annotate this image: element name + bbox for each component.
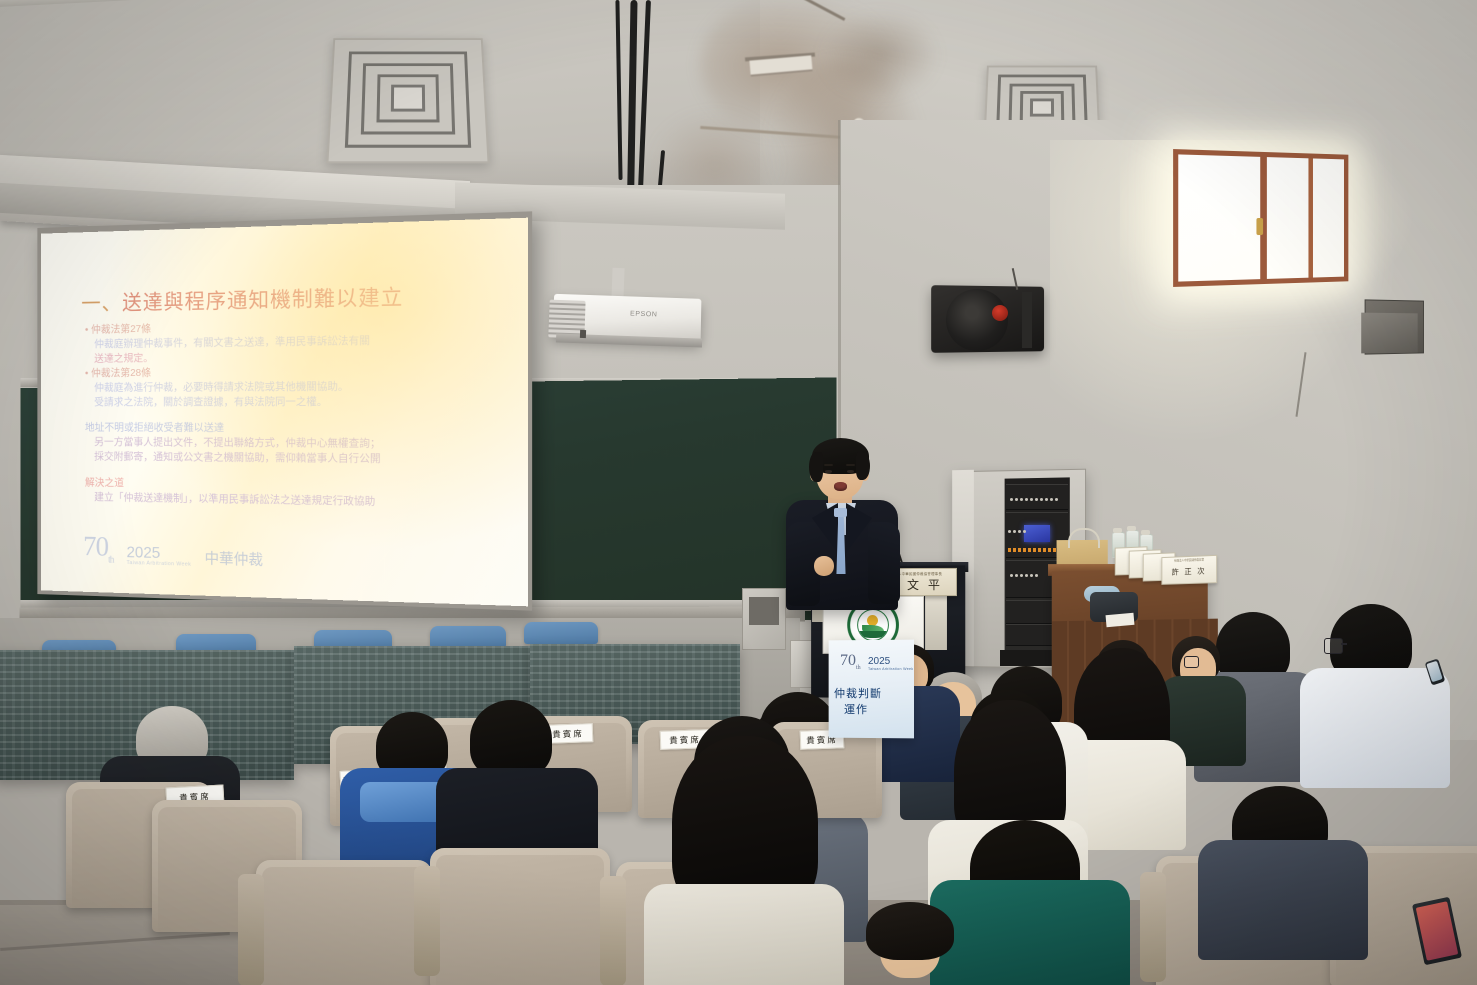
podium-side-panel [925,592,947,650]
audience-body-green [930,880,1130,985]
bottle-cap [1113,528,1122,533]
presenter-eye [825,470,832,473]
lecture-hall-photo: 一、送達與程序通知機制難以建立 • 仲裁法第27條 仲裁庭辦理仲裁事件，有關文書… [0,0,1477,985]
blue-chair[interactable] [524,622,598,644]
seat-armrest [600,876,626,985]
hvac-diffuser-icon [326,38,489,163]
glasses-icon [1184,656,1199,668]
presenter-right-arm [868,522,900,604]
blue-chair[interactable] [430,626,506,648]
rack-knob-row [1010,498,1058,501]
mixer-lcd-display [1024,525,1050,542]
glasses-icon [1324,638,1343,654]
presenter-eyebrow [846,464,855,466]
paper-stack [1106,613,1135,627]
standee-year-logo: 2025Taiwan Arbitration Week [868,652,913,672]
glasses-bridge [1341,643,1347,645]
auditorium-seat-front[interactable] [256,860,432,985]
presenter-eye [847,470,854,473]
presenter-mouth [834,482,847,491]
screen-hotspot-glare [41,218,528,607]
amp-knob-row [1010,574,1038,577]
standee-anniversary-logo: 70th [840,652,861,671]
bottle-cap [1141,530,1150,535]
wall-speaker-right-face [1361,313,1417,354]
speaker-bracket [1022,292,1032,348]
seat-armrest [414,866,440,976]
projection-screen: 一、送達與程序通知機制難以建立 • 仲裁法第27條 仲裁庭辦理仲裁事件，有關文書… [41,218,528,607]
audience-hair [866,902,954,960]
projector-brand-label: EPSON [630,311,658,319]
table-nameplate-visible: 社團法人中華民國仲裁協會 許 正 次 [1161,555,1217,585]
audience-hair [470,700,552,778]
projector-sensor-icon [580,330,586,338]
presenter-hand [814,556,834,576]
audience-body [644,884,844,985]
ceiling-water-stain [820,10,940,100]
window-latch[interactable] [1256,218,1263,235]
standee-headline: 仲裁判斷 運作 [834,686,882,718]
window [1173,149,1348,287]
tote-handle [1068,528,1100,548]
speaker-tweeter-icon [992,305,1008,321]
rack-unit-patchbay [1006,484,1068,510]
presenter-tie-knot [834,508,847,517]
seat-armrest [238,874,264,985]
presenter-hair-side [856,452,870,480]
presenter-hair-side [809,452,823,482]
wall-outlet-box [742,588,786,650]
audience-body [1198,840,1368,960]
auditorium-seat-front[interactable] [430,848,610,985]
audience-body [1300,668,1450,788]
presenter-eyebrow [824,464,833,466]
mixer-knob-row [1008,530,1026,533]
seat-armrest [1140,872,1166,982]
bottle-cap [1127,526,1136,531]
